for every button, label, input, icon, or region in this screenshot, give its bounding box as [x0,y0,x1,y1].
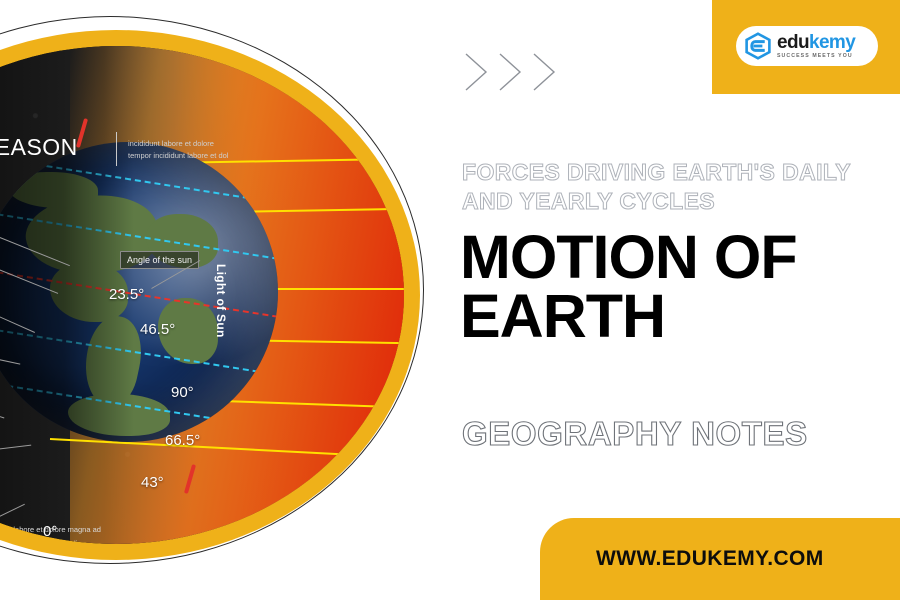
title-divider [116,132,117,166]
infographic-bottom-line2: m dolortempor incididunt labore et dolor… [0,538,77,544]
logo-word-edu: edu [777,32,809,53]
edukemy-logo[interactable]: edukemy SUCCESS MEETS YOU [736,26,878,66]
poster-eyebrow: Forces Driving Earth's Daily and Yearly … [462,158,892,217]
logo-banner: edukemy SUCCESS MEETS YOU [712,0,900,94]
chevron-right-icon [496,48,526,96]
chevron-right-icon [530,48,560,96]
poster-category: Geography Notes [462,415,892,453]
angle-value-label: 0° [43,523,57,540]
edukemy-e-hexagon-icon [744,32,772,60]
angle-value-label: 66.5° [165,432,200,449]
angle-value-label: 43° [141,474,164,491]
light-of-sun-label: Light of Sun [214,264,228,338]
chevron-group [462,48,560,96]
infographic-subtitle-line1: incididunt labore et dolore [128,138,214,149]
poster-title: Motion of Earth [460,228,890,345]
earth-season-infographic: EARTH SEASON incididunt labore et dolore… [0,20,440,580]
logo-word-kemy: kemy [809,32,855,53]
infographic-title: EARTH SEASON [0,134,78,161]
footer-banner: WWW.EDUKEMY.COM [540,518,900,600]
logo-tagline: SUCCESS MEETS YOU [777,54,855,59]
infographic-disc: EARTH SEASON incididunt labore et dolore… [0,46,404,544]
poster-canvas: EARTH SEASON incididunt labore et dolore… [0,0,900,600]
angle-value-label: 46.5° [140,321,175,338]
infographic-subtitle-line2: tempor incididunt labore et dol [128,150,228,161]
website-url[interactable]: WWW.EDUKEMY.COM [596,547,824,571]
angle-value-label: 23.5° [109,286,144,303]
chevron-right-icon [462,48,492,96]
angle-value-label: 90° [171,384,194,401]
